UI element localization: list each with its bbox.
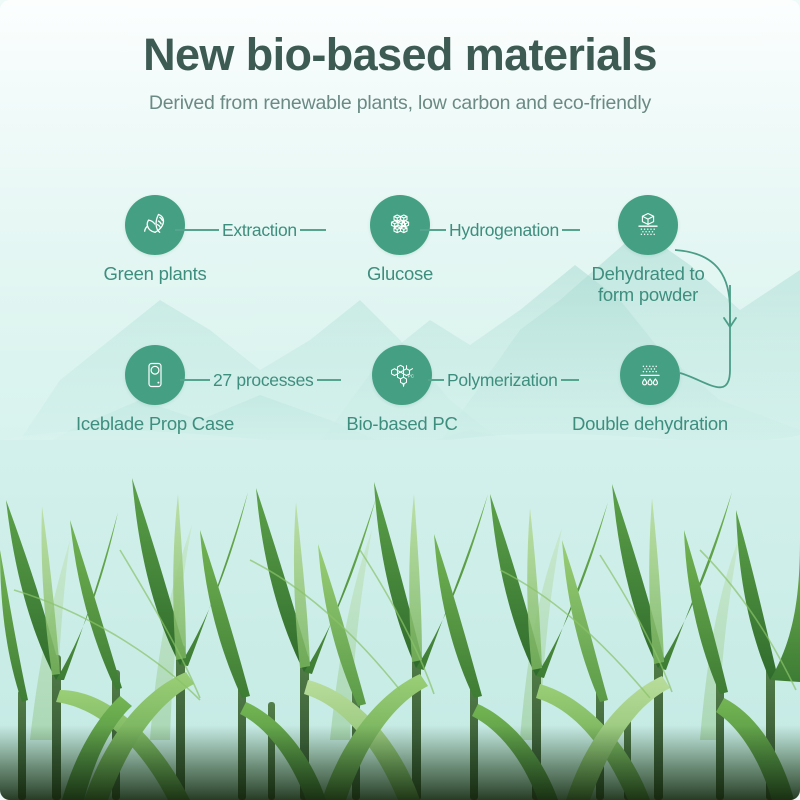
- infographic-poster: New bio-based materials Derived from ren…: [0, 0, 800, 800]
- flow-node-label: Double dehydration: [570, 414, 730, 435]
- sugarcane-illustration: [0, 440, 800, 800]
- flow-node-double-dehydration[interactable]: Double dehydration: [570, 345, 730, 435]
- molecule-pc-icon: PC O: [384, 357, 420, 393]
- flow-node-label: Bio-based PC: [322, 414, 482, 435]
- page-subtitle: Derived from renewable plants, low carbo…: [0, 80, 800, 115]
- sugar-cubes-icon: [383, 208, 417, 242]
- cube-powder-icon: [631, 208, 665, 242]
- connector-line-left: [428, 379, 444, 381]
- connector-line-left: [175, 229, 219, 231]
- phone-case-icon: [138, 358, 172, 392]
- flow-node-label: Iceblade Prop Case: [75, 414, 235, 435]
- powder-drops-icon: [633, 358, 667, 392]
- flow-node-label: Green plants: [75, 264, 235, 285]
- header: New bio-based materials Derived from ren…: [0, 0, 800, 115]
- connector-label: Extraction: [219, 220, 300, 241]
- connector-label: Polymerization: [444, 370, 561, 391]
- connector-label: 27 processes: [210, 370, 317, 391]
- sugarcane-field-photo: [0, 440, 800, 800]
- double-dehydration-circle: [620, 345, 680, 405]
- flow-node-dehydrated-powder[interactable]: Dehydrated to form powder: [568, 195, 728, 305]
- connector-line-left: [180, 379, 210, 381]
- svg-text:O: O: [402, 382, 405, 386]
- flow-connector-27-processes: 27 processes: [180, 370, 345, 390]
- iceblade-case-circle: [125, 345, 185, 405]
- flow-node-label: Glucose: [320, 264, 480, 285]
- connector-line-left: [420, 229, 446, 231]
- bio-based-pc-circle: PC O: [372, 345, 432, 405]
- dehydrated-powder-circle: [618, 195, 678, 255]
- page-title: New bio-based materials: [0, 0, 800, 80]
- corn-icon: [138, 208, 172, 242]
- flow-node-label: Dehydrated to form powder: [568, 264, 728, 305]
- process-flow-diagram: Green plants Extraction: [0, 175, 800, 465]
- connector-label: Hydrogenation: [446, 220, 562, 241]
- svg-text:PC: PC: [408, 374, 414, 379]
